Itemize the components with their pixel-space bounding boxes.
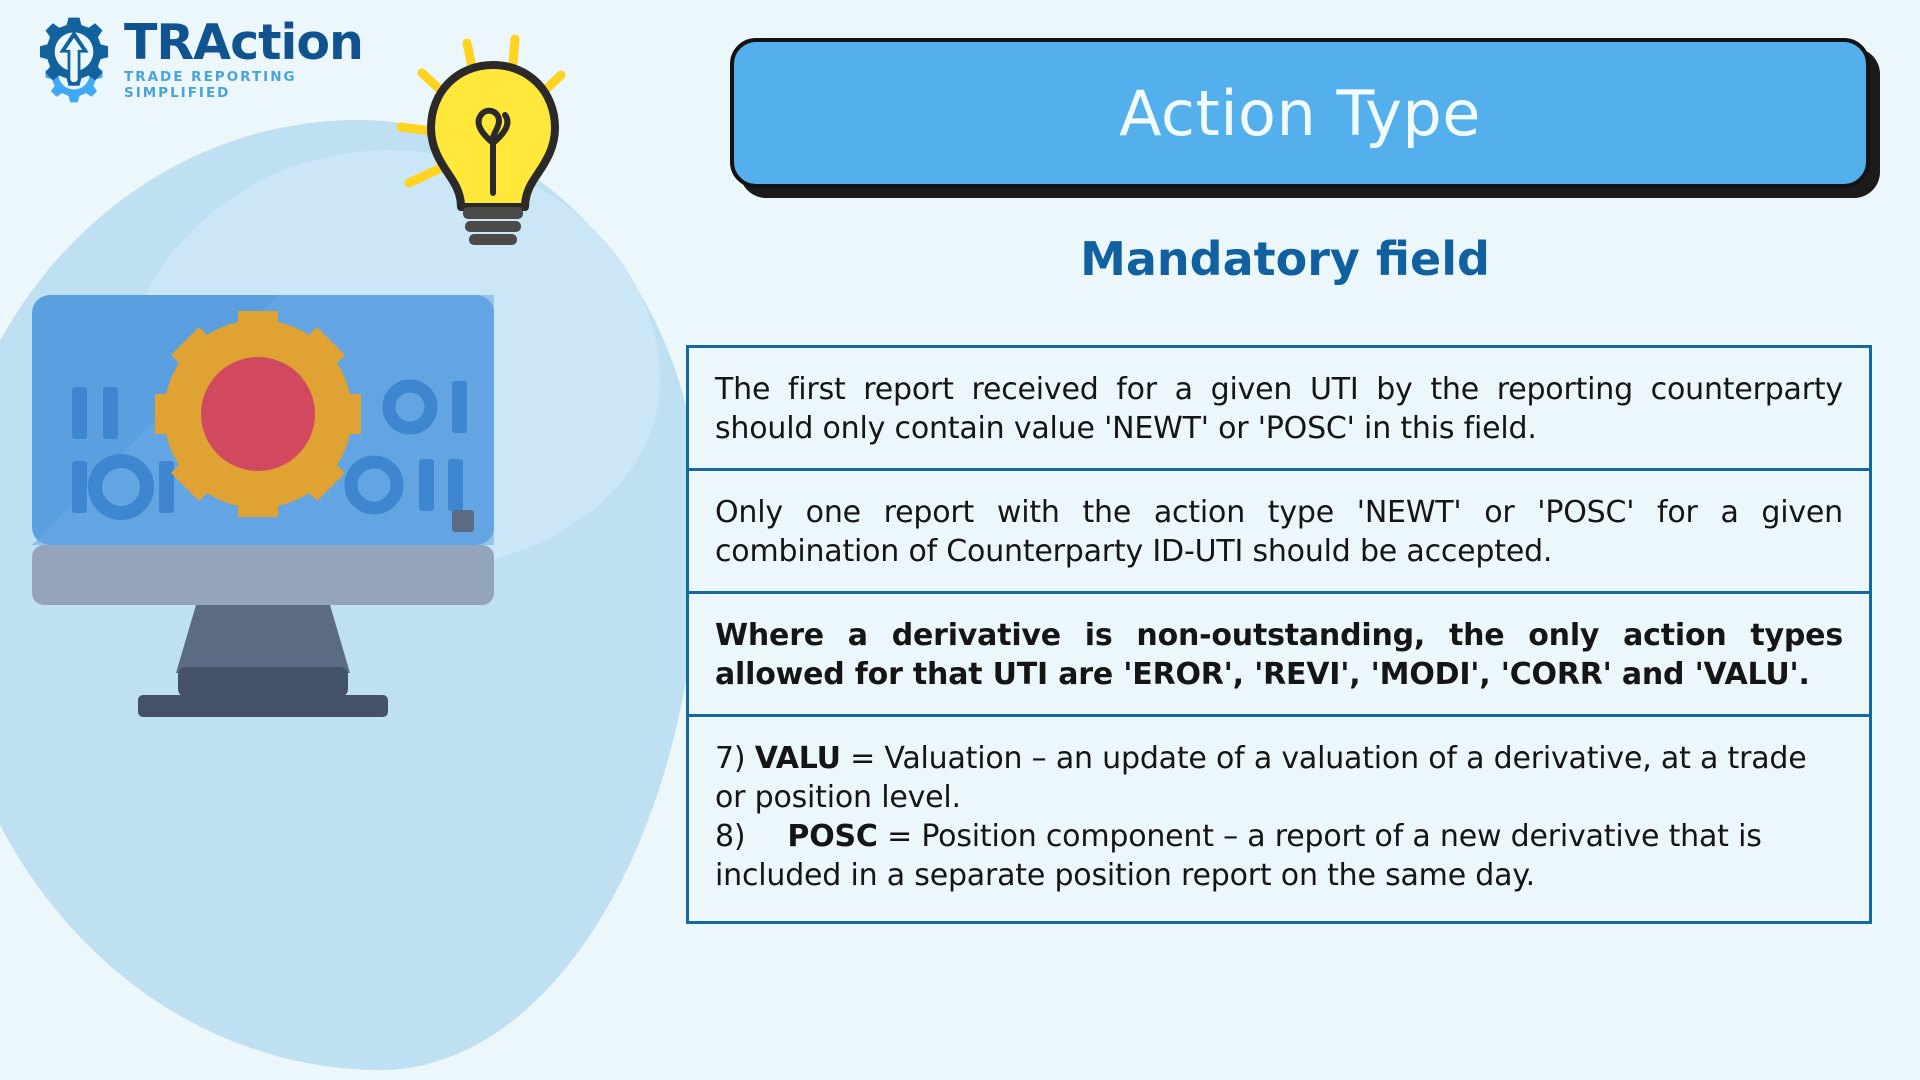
brand-name-part2: Action	[193, 14, 363, 71]
header-banner: Action Type	[730, 38, 1870, 188]
definition-item-posc: 8)POSC = Position component – a report o…	[715, 817, 1843, 895]
subtitle-mandatory-field: Mandatory field	[690, 232, 1880, 286]
definition-item-valu: 7) VALU = Valuation – an update of a val…	[715, 739, 1843, 817]
monitor-gear-icon	[28, 295, 498, 730]
gear-arrow-icon	[28, 14, 120, 106]
brand-logo: TRAction TRADE REPORTING SIMPLIFIED	[28, 10, 358, 110]
content-box-first-report: The first report received for a given UT…	[686, 345, 1872, 471]
content-box-text: The first report received for a given UT…	[715, 370, 1843, 448]
content-box-definitions: 7) VALU = Valuation – an update of a val…	[686, 714, 1872, 924]
page-title: Action Type	[1119, 77, 1481, 150]
brand-name-part1: TR	[124, 14, 193, 71]
definition-number: 8)	[715, 819, 745, 854]
brand-name: TRAction	[124, 19, 363, 67]
definition-code: VALU	[755, 741, 841, 776]
definition-number: 7)	[715, 741, 745, 776]
definition-code: POSC	[787, 819, 877, 854]
content-box-only-one-report: Only one report with the action type 'NE…	[686, 468, 1872, 594]
content-box-list: The first report received for a given UT…	[686, 345, 1872, 921]
content-box-non-outstanding: Where a derivative is non-outstanding, t…	[686, 591, 1872, 717]
content-box-text: Where a derivative is non-outstanding, t…	[715, 616, 1843, 694]
lightbulb-icon	[395, 35, 575, 255]
infographic-canvas: TRAction TRADE REPORTING SIMPLIFIED	[0, 0, 1920, 1080]
brand-wordmark: TRAction TRADE REPORTING SIMPLIFIED	[124, 19, 363, 101]
content-box-text: Only one report with the action type 'NE…	[715, 493, 1843, 571]
brand-tagline: TRADE REPORTING SIMPLIFIED	[124, 69, 363, 101]
definition-text: = Valuation – an update of a valuation o…	[715, 741, 1806, 815]
